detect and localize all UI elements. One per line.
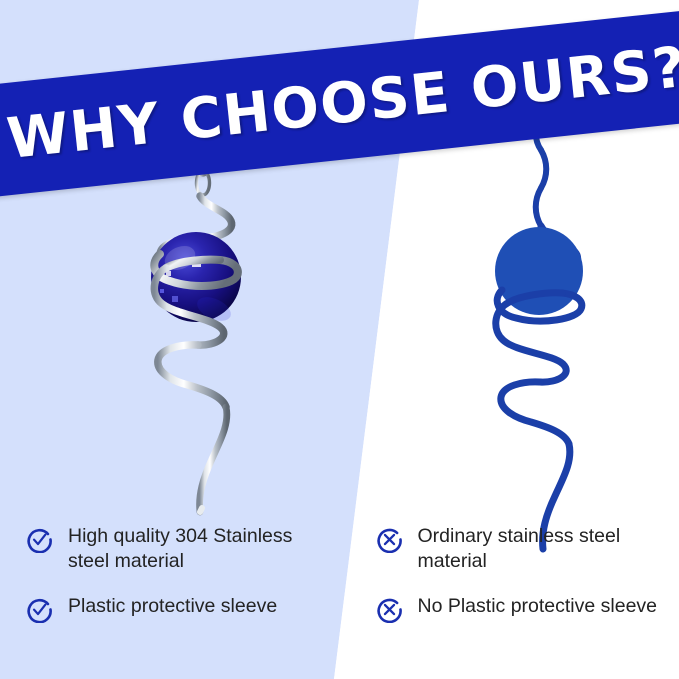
x-circle-icon: [376, 526, 403, 553]
list-item: No Plastic protective sleeve: [376, 594, 672, 623]
list-item: Ordinary stainless steel material: [376, 524, 672, 574]
bullets-column-ordinary: Ordinary stainless steel material No Pla…: [340, 524, 679, 679]
x-circle-icon: [376, 596, 403, 623]
list-item-label: No Plastic protective sleeve: [418, 594, 658, 619]
infographic-canvas: WHY CHOOSE OURS? High quality 304 Stainl…: [0, 0, 679, 679]
list-item-label: High quality 304 Stainless steel materia…: [68, 524, 330, 574]
list-item: Plastic protective sleeve: [26, 594, 330, 623]
list-item-label: Ordinary stainless steel material: [418, 524, 672, 574]
check-circle-icon: [26, 596, 53, 623]
list-item: High quality 304 Stainless steel materia…: [26, 524, 330, 574]
comparison-bullets: High quality 304 Stainless steel materia…: [0, 524, 679, 679]
bullets-column-ours: High quality 304 Stainless steel materia…: [0, 524, 340, 679]
check-circle-icon: [26, 526, 53, 553]
list-item-label: Plastic protective sleeve: [68, 594, 277, 619]
